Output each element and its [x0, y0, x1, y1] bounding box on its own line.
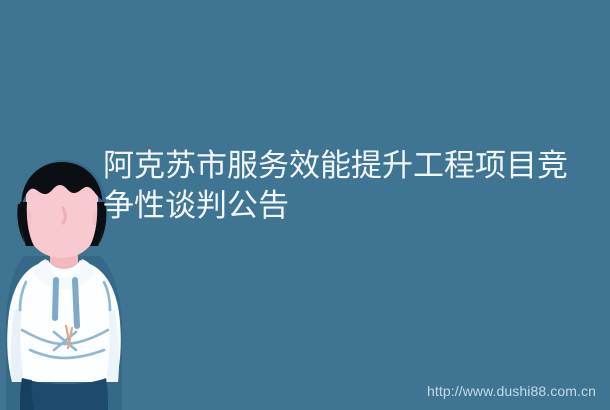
title-line-1: 阿克苏市服务效能提升工程项目竞	[103, 146, 573, 186]
title-line-2: 争性谈判公告	[103, 186, 573, 226]
hoodie	[7, 259, 121, 382]
banner-image: 阿克苏市服务效能提升工程项目竞 争性谈判公告 http://www.dushi8…	[0, 0, 610, 410]
watermark-url: http://www.dushi88.com.cn	[427, 382, 596, 400]
page-title: 阿克苏市服务效能提升工程项目竞 争性谈判公告	[103, 146, 573, 226]
